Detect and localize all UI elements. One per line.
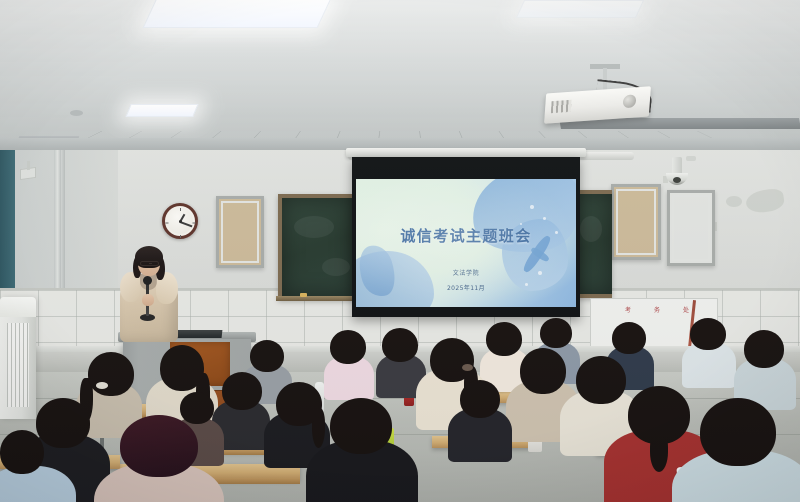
clock-tick bbox=[166, 223, 169, 224]
wall-pipe bbox=[54, 150, 61, 300]
whiteboard-characters: 考 务 处 bbox=[625, 305, 689, 314]
slide-canvas: 诚信考试主题班会 文法学院 2025年11月 bbox=[356, 179, 576, 307]
ceiling bbox=[0, 0, 800, 152]
clock-tick bbox=[180, 208, 181, 211]
ceiling-shading bbox=[0, 0, 800, 152]
projection-screen: 诚信考试主题班会 文法学院 2025年11月 bbox=[352, 157, 580, 317]
student-head bbox=[382, 328, 418, 362]
air-conditioner-grill bbox=[7, 323, 29, 407]
chalk-tray bbox=[276, 296, 358, 301]
wall-bracket bbox=[20, 167, 36, 180]
student-head bbox=[700, 398, 776, 466]
bulletin-board bbox=[611, 184, 661, 260]
student-head bbox=[222, 372, 262, 410]
presenter-hand bbox=[142, 294, 154, 306]
paint-peel bbox=[726, 196, 742, 207]
wall-pipe-secondary bbox=[61, 150, 65, 300]
bulletin-board bbox=[216, 196, 264, 268]
clock-tick bbox=[180, 235, 181, 238]
speckle bbox=[530, 205, 534, 209]
ceiling-speaker bbox=[70, 110, 83, 116]
hair-tie bbox=[96, 382, 108, 389]
clock-tick bbox=[193, 223, 196, 224]
slide-organization: 文法学院 bbox=[356, 268, 576, 277]
student-head bbox=[250, 340, 284, 372]
whiteboard-char: 考 bbox=[625, 305, 631, 314]
student-head bbox=[520, 348, 566, 394]
student-head bbox=[120, 415, 198, 477]
projector-vent bbox=[551, 100, 572, 113]
ceiling-light-panel bbox=[516, 0, 644, 18]
classroom-photo: 诚信考试主题班会 文法学院 2025年11月 考 务 处 bbox=[0, 0, 800, 502]
student-head bbox=[88, 352, 134, 396]
student-head bbox=[180, 392, 214, 424]
student-head bbox=[540, 318, 572, 348]
chalk-smudge bbox=[580, 216, 602, 242]
wall-clock bbox=[162, 203, 198, 239]
air-conditioner-top bbox=[0, 297, 36, 317]
screen-rail-right bbox=[578, 152, 634, 160]
chalk-smudge bbox=[322, 258, 350, 276]
student-head bbox=[330, 330, 366, 364]
air-conditioner bbox=[0, 297, 36, 419]
empty-frame-board bbox=[667, 190, 715, 266]
student-head bbox=[330, 398, 392, 454]
glasses-icon bbox=[140, 261, 159, 266]
student-head bbox=[430, 338, 474, 382]
speckle bbox=[543, 217, 546, 220]
bulletin-board-frame bbox=[616, 189, 656, 255]
student-head bbox=[690, 318, 726, 350]
student-head bbox=[628, 386, 690, 444]
ceiling-light-panel bbox=[143, 0, 333, 28]
student-head bbox=[744, 330, 784, 368]
microphone-head bbox=[143, 276, 152, 285]
bulletin-board-frame bbox=[221, 201, 259, 263]
ceiling-light-panel bbox=[125, 104, 198, 117]
screen-pull-knob[interactable] bbox=[686, 156, 696, 161]
presenter bbox=[118, 250, 180, 342]
student-head bbox=[36, 398, 90, 448]
student-head bbox=[612, 322, 646, 354]
clock-center-pin bbox=[179, 220, 182, 223]
student-head bbox=[0, 430, 44, 474]
slide-title: 诚信考试主题班会 bbox=[356, 225, 576, 246]
student-head bbox=[160, 345, 204, 391]
whiteboard-char: 务 bbox=[654, 305, 660, 314]
empty-frame-border bbox=[672, 195, 710, 261]
chalk-piece bbox=[300, 293, 307, 297]
whiteboard-char: 处 bbox=[683, 305, 689, 314]
slide-date: 2025年11月 bbox=[356, 283, 576, 292]
chalk-smudge bbox=[294, 216, 334, 238]
projection-screen-housing bbox=[346, 148, 586, 157]
hair-tie bbox=[462, 364, 473, 371]
chalkboard-left bbox=[278, 194, 356, 300]
student-head bbox=[460, 380, 500, 418]
student-head bbox=[276, 382, 322, 426]
student-head bbox=[576, 356, 626, 404]
student-head bbox=[486, 322, 522, 356]
